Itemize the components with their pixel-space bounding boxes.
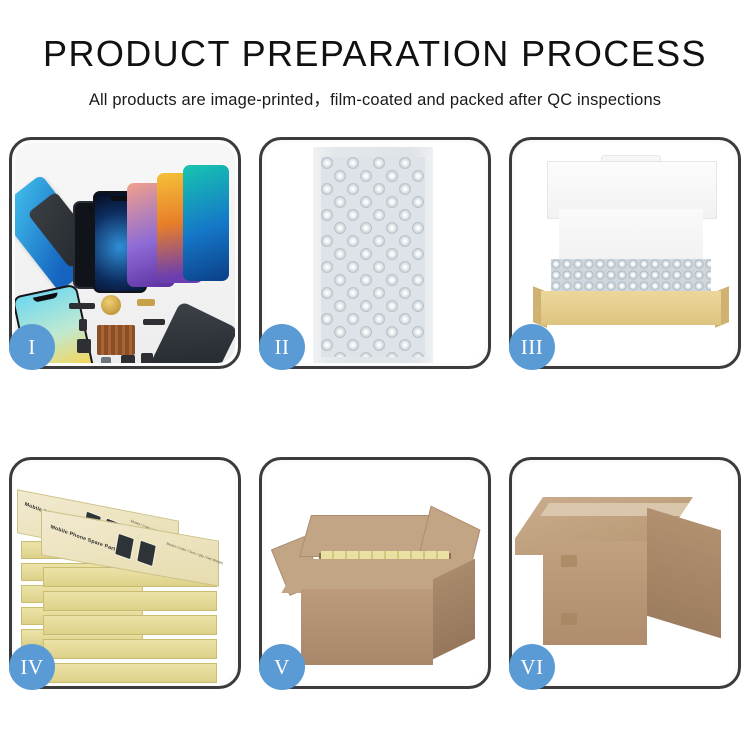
step-panel-carton-sealed[interactable]: VI [509, 457, 741, 689]
step-badge-3: III [509, 324, 555, 370]
phone-teal-gradient [183, 165, 229, 281]
carton-tab-lower [561, 613, 577, 625]
stacked-box [43, 663, 217, 683]
notch-icon [33, 293, 58, 303]
box-spec-lines: Model / Color / Size / Qty / Net Weight [166, 542, 223, 567]
phone-back-housing [148, 301, 235, 363]
stacked-box [43, 591, 217, 611]
carton-tab-upper [561, 555, 577, 567]
bubble-wrapped-contents [551, 259, 711, 293]
carton-front-face [301, 589, 433, 665]
flex-cable-part [69, 303, 95, 309]
stacked-box [43, 615, 217, 635]
step-panel-stacked-boxes[interactable]: Mobile Phone Spare Parts Model / Color /… [9, 457, 241, 689]
box-front-face [541, 291, 721, 325]
vibrator-part [121, 355, 135, 363]
speaker-coil-part [101, 295, 121, 315]
sealed-carton-side [647, 508, 721, 639]
page-title: PRODUCT PREPARATION PROCESS [0, 36, 750, 72]
stacked-box [43, 639, 217, 659]
step-panel-inner-box[interactable]: III [509, 137, 741, 369]
process-step-grid: I II III Mobile Phone S [9, 137, 741, 689]
step-badge-4: IV [9, 644, 55, 690]
button-flex-part [143, 319, 165, 325]
sealed-carton-front [543, 541, 647, 645]
box-label-title: Mobile Phone Spare Parts [50, 524, 119, 554]
box-window-left [114, 533, 135, 561]
step-badge-1: I [9, 324, 55, 370]
page-subtitle: All products are image-printed，film-coat… [0, 86, 750, 110]
battery-connector-part [141, 353, 153, 363]
box-window-right [136, 539, 157, 567]
screw-part [79, 319, 87, 331]
bubble-pattern [321, 157, 425, 357]
sim-tray-part [101, 357, 111, 363]
step-panel-product-parts[interactable]: I [9, 137, 241, 369]
camera-module-part [77, 339, 91, 353]
step-panel-bubble-wrap[interactable]: II [259, 137, 491, 369]
gold-connector-part [137, 299, 155, 306]
page-header: PRODUCT PREPARATION PROCESS All products… [0, 0, 750, 110]
step-panel-carton-filled[interactable]: V [259, 457, 491, 689]
step-badge-6: VI [509, 644, 555, 690]
circuit-board-part [97, 325, 135, 355]
step-badge-2: II [259, 324, 305, 370]
step-badge-5: V [259, 644, 305, 690]
